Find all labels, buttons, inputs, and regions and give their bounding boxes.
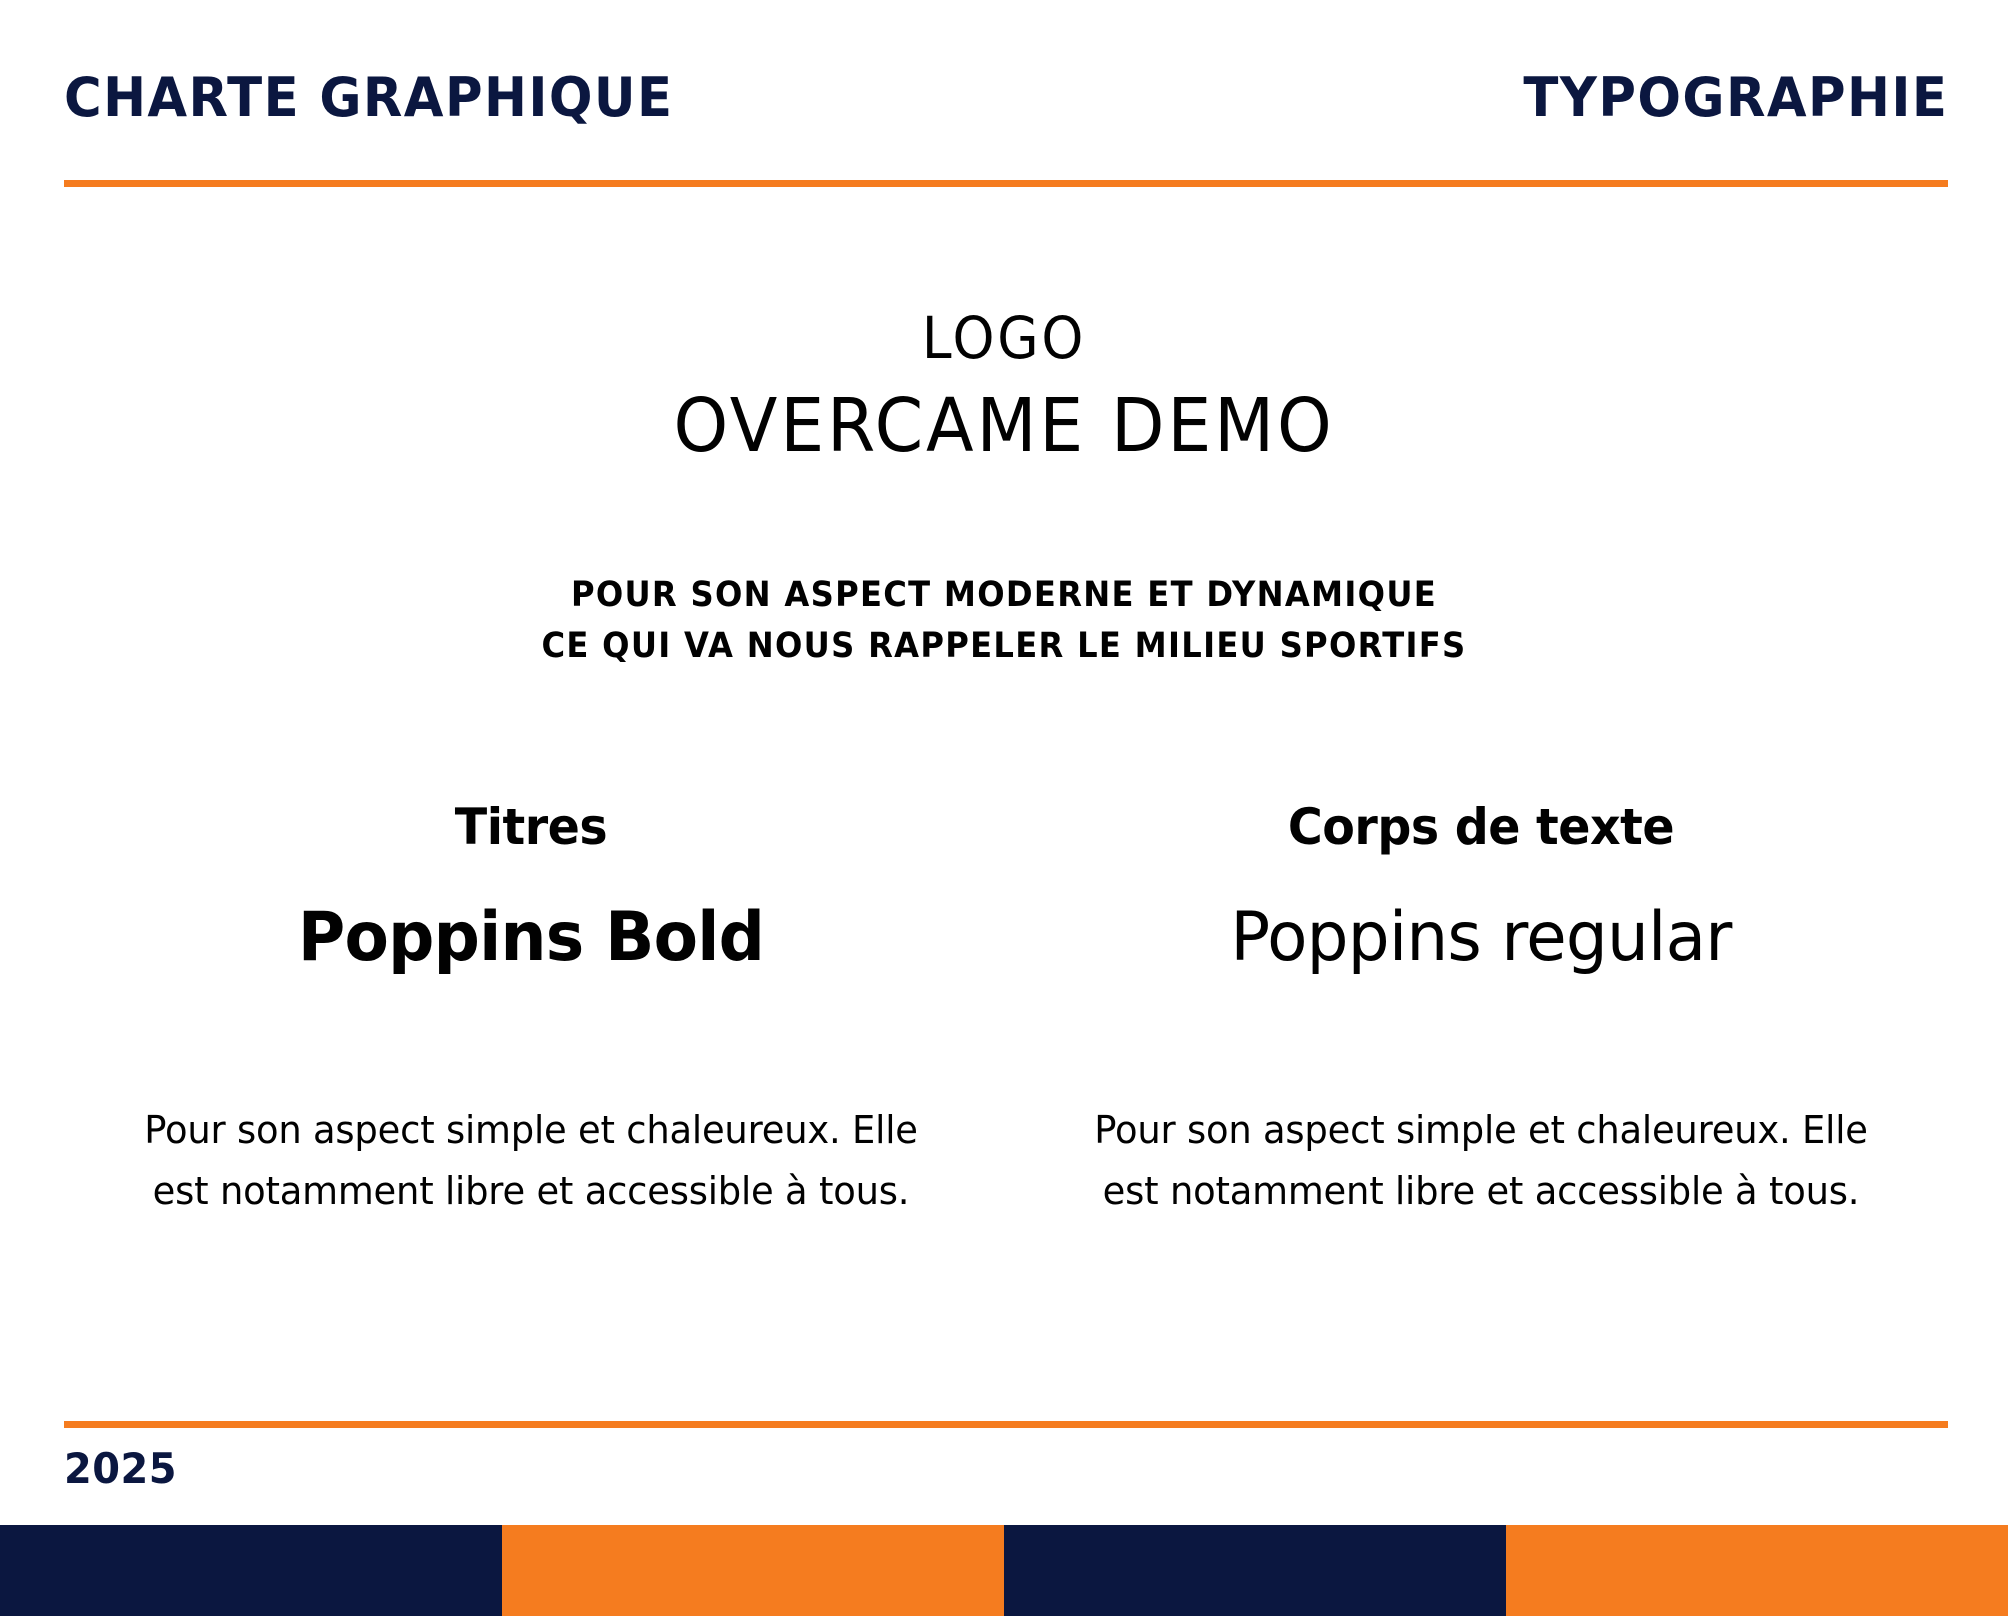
column-role-label: Titres <box>125 800 936 855</box>
footer-color-bar <box>0 1525 2008 1616</box>
color-bar-segment-3 <box>1004 1525 1506 1616</box>
typography-columns: Titres Poppins Bold Pour son aspect simp… <box>64 800 1948 1223</box>
logo-name: OVERCAME DEMO <box>60 380 1948 473</box>
header-right-title: TYPOGRAPHIE <box>1523 71 1948 125</box>
slide-header: CHARTE GRAPHIQUE TYPOGRAPHIE <box>64 58 1948 138</box>
header-divider-rule <box>64 180 1948 187</box>
column-role-label: Corps de texte <box>1075 800 1886 855</box>
typography-column-body: Corps de texte Poppins regular Pour son … <box>1006 800 1948 1223</box>
footer-year: 2025 <box>64 1448 177 1490</box>
column-font-name: Poppins Bold <box>125 901 936 976</box>
slide-root: CHARTE GRAPHIQUE TYPOGRAPHIE LOGO OVERCA… <box>0 0 2008 1616</box>
color-bar-segment-4 <box>1506 1525 2008 1616</box>
color-bar-segment-1 <box>0 1525 502 1616</box>
color-bar-segment-2 <box>502 1525 1004 1616</box>
column-body-text: Pour son aspect simple et chaleureux. El… <box>1067 1100 1895 1223</box>
logo-description: POUR SON ASPECT MODERNE ET DYNAMIQUE CE … <box>0 570 2008 672</box>
logo-description-line-1: POUR SON ASPECT MODERNE ET DYNAMIQUE <box>80 570 1927 621</box>
logo-description-line-2: CE QUI VA NOUS RAPPELER LE MILIEU SPORTI… <box>80 621 1927 672</box>
logo-label: LOGO <box>80 305 1927 372</box>
typography-column-titles: Titres Poppins Bold Pour son aspect simp… <box>64 800 1006 1223</box>
logo-section: LOGO OVERCAME DEMO <box>0 305 2008 472</box>
column-body-text: Pour son aspect simple et chaleureux. El… <box>117 1100 945 1223</box>
footer-divider-rule <box>64 1421 1948 1428</box>
column-font-name: Poppins regular <box>1067 901 1895 976</box>
header-left-title: CHARTE GRAPHIQUE <box>64 71 673 125</box>
